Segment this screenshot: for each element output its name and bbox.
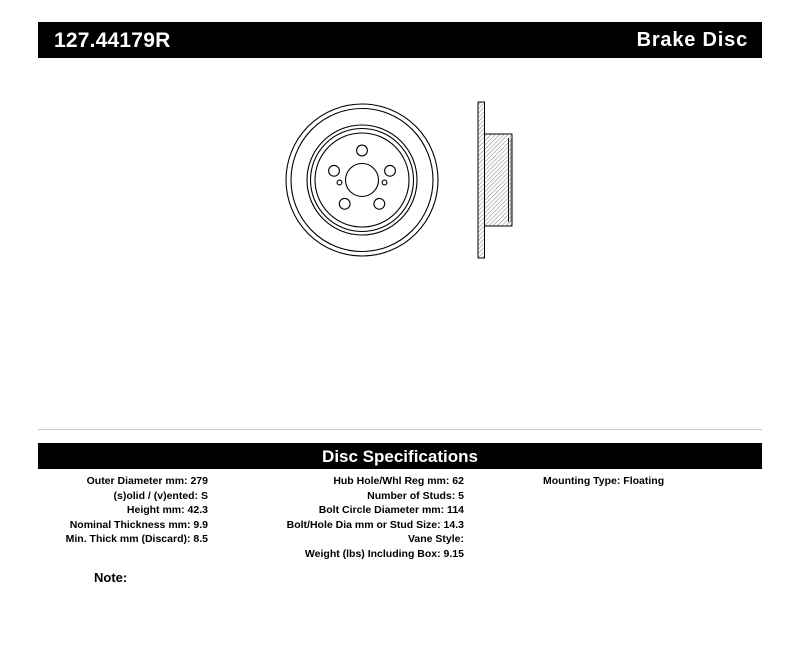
spec-column-type: Mounting Type: Floating (543, 474, 762, 489)
spec-title-label: Disc Specifications (322, 448, 478, 465)
disc-face-drawing (282, 98, 442, 262)
section-divider (38, 429, 762, 430)
drawing-area (38, 70, 762, 410)
header-bar: 127.44179R Brake Disc (38, 22, 762, 58)
stud-hole (357, 145, 368, 156)
disc-cross-section-drawing (472, 98, 526, 262)
stud-hole (374, 198, 385, 209)
spec-line: (s)olid / (v)ented: S (38, 489, 208, 504)
spec-line: Hub Hole/Whl Reg mm: 62 (218, 474, 464, 489)
stud-hole (329, 165, 340, 176)
spec-columns: Outer Diameter mm: 279 (s)olid / (v)ente… (38, 474, 762, 594)
friction-ring-outer (307, 125, 417, 235)
spec-line: Bolt Circle Diameter mm: 114 (218, 503, 464, 518)
spec-line: Weight (lbs) Including Box: 9.15 (218, 547, 464, 562)
note-label: Note: (94, 571, 127, 584)
spec-column-mounting: Hub Hole/Whl Reg mm: 62 Number of Studs:… (218, 474, 464, 562)
part-number-label: 127.44179R (54, 30, 170, 51)
locating-pin-hole (382, 180, 387, 185)
hub-face-circle (315, 133, 409, 227)
locating-pin-hole (337, 180, 342, 185)
rotor-outer-edge (286, 104, 438, 256)
spec-line: Min. Thick mm (Discard): 8.5 (38, 532, 208, 547)
spec-sheet-page: 127.44179R Brake Disc (0, 0, 800, 655)
friction-ring-inner (311, 129, 414, 232)
spec-line: Nominal Thickness mm: 9.9 (38, 518, 208, 533)
rotor-hat-section (478, 102, 512, 258)
center-bore-hole (346, 164, 379, 197)
spec-line: Number of Studs: 5 (218, 489, 464, 504)
rotor-outer-chamfer (291, 109, 433, 252)
spec-line: Mounting Type: Floating (543, 474, 762, 489)
spec-line: Height mm: 42.3 (38, 503, 208, 518)
spec-line: Bolt/Hole Dia mm or Stud Size: 14.3 (218, 518, 464, 533)
product-type-label: Brake Disc (637, 30, 748, 50)
stud-hole (385, 165, 396, 176)
stud-hole (339, 198, 350, 209)
spec-line: Vane Style: (218, 532, 464, 547)
spec-line: Outer Diameter mm: 279 (38, 474, 208, 489)
spec-title-bar: Disc Specifications (38, 443, 762, 469)
spec-column-dimensions: Outer Diameter mm: 279 (s)olid / (v)ente… (38, 474, 208, 547)
